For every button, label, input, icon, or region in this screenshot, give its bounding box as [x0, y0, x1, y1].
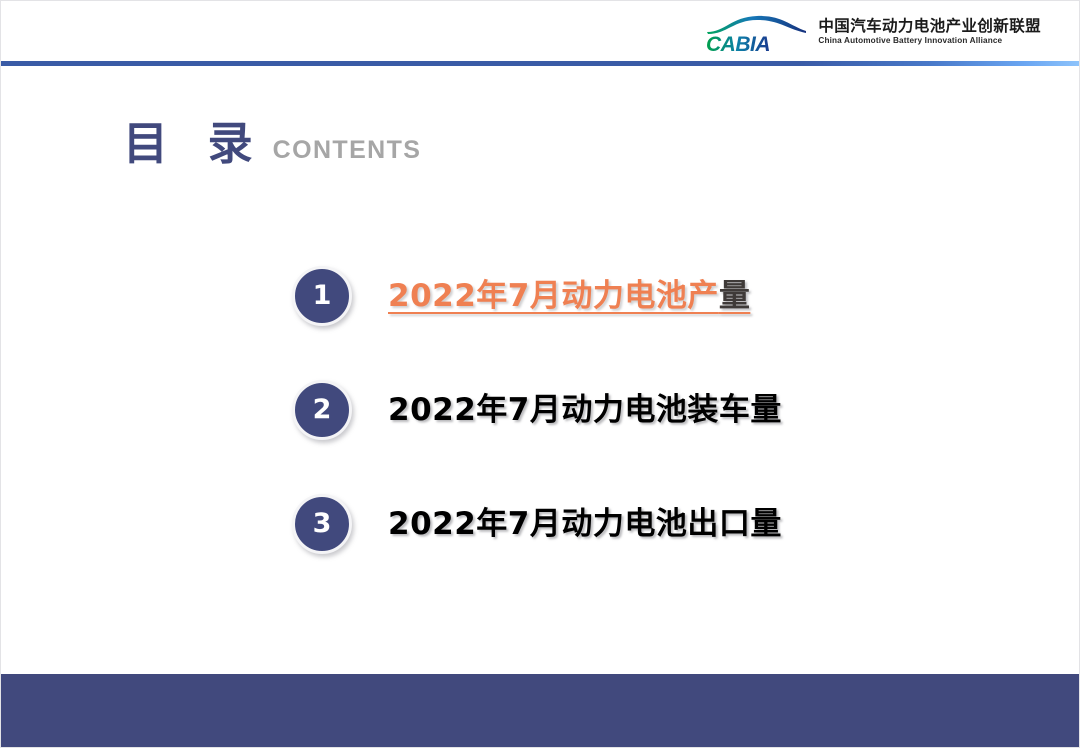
cabia-car-arc-logo: CABIA: [705, 11, 809, 53]
organization-name-cn: 中国汽车动力电池产业创新联盟: [818, 19, 1041, 35]
page-title-en: CONTENTS: [273, 138, 422, 166]
contents-item-label-1[interactable]: 2022年7月动力电池产量: [388, 279, 750, 313]
organization-branding: CABIA 中国汽车动力电池产业创新联盟 China Automotive Ba…: [705, 11, 1041, 53]
contents-item-label-1-tail: 量: [719, 278, 751, 314]
page-title: 目 录 CONTENTS: [123, 121, 421, 166]
contents-number-2: 2: [313, 396, 332, 423]
contents-item-label-3[interactable]: 2022年7月动力电池出口量: [388, 507, 782, 541]
organization-name-en: China Automotive Battery Innovation Alli…: [818, 37, 1041, 45]
contents-item-label-1-head: 2022年7月动力电池产: [388, 278, 719, 314]
slide-header: CABIA 中国汽车动力电池产业创新联盟 China Automotive Ba…: [1, 1, 1079, 62]
contents-number-3: 3: [313, 510, 332, 537]
contents-number-badge-3: 3: [292, 494, 352, 554]
svg-text:CABIA: CABIA: [706, 33, 770, 53]
contents-list: 1 2022年7月动力电池产量 2 2022年7月动力电池装车量 3 2022年…: [292, 266, 992, 554]
presentation-slide: CABIA 中国汽车动力电池产业创新联盟 China Automotive Ba…: [0, 0, 1080, 748]
contents-number-badge-2: 2: [292, 380, 352, 440]
contents-item-2[interactable]: 2 2022年7月动力电池装车量: [292, 380, 992, 440]
contents-item-1[interactable]: 1 2022年7月动力电池产量: [292, 266, 992, 326]
contents-number-badge-1: 1: [292, 266, 352, 326]
page-title-cn: 目 录: [123, 121, 265, 166]
contents-item-label-2[interactable]: 2022年7月动力电池装车量: [388, 393, 782, 427]
organization-name-block: 中国汽车动力电池产业创新联盟 China Automotive Battery …: [818, 19, 1041, 46]
contents-number-1: 1: [313, 282, 332, 309]
footer-bar: [1, 674, 1079, 747]
contents-item-3[interactable]: 3 2022年7月动力电池出口量: [292, 494, 992, 554]
header-divider-rule: [1, 61, 1079, 66]
